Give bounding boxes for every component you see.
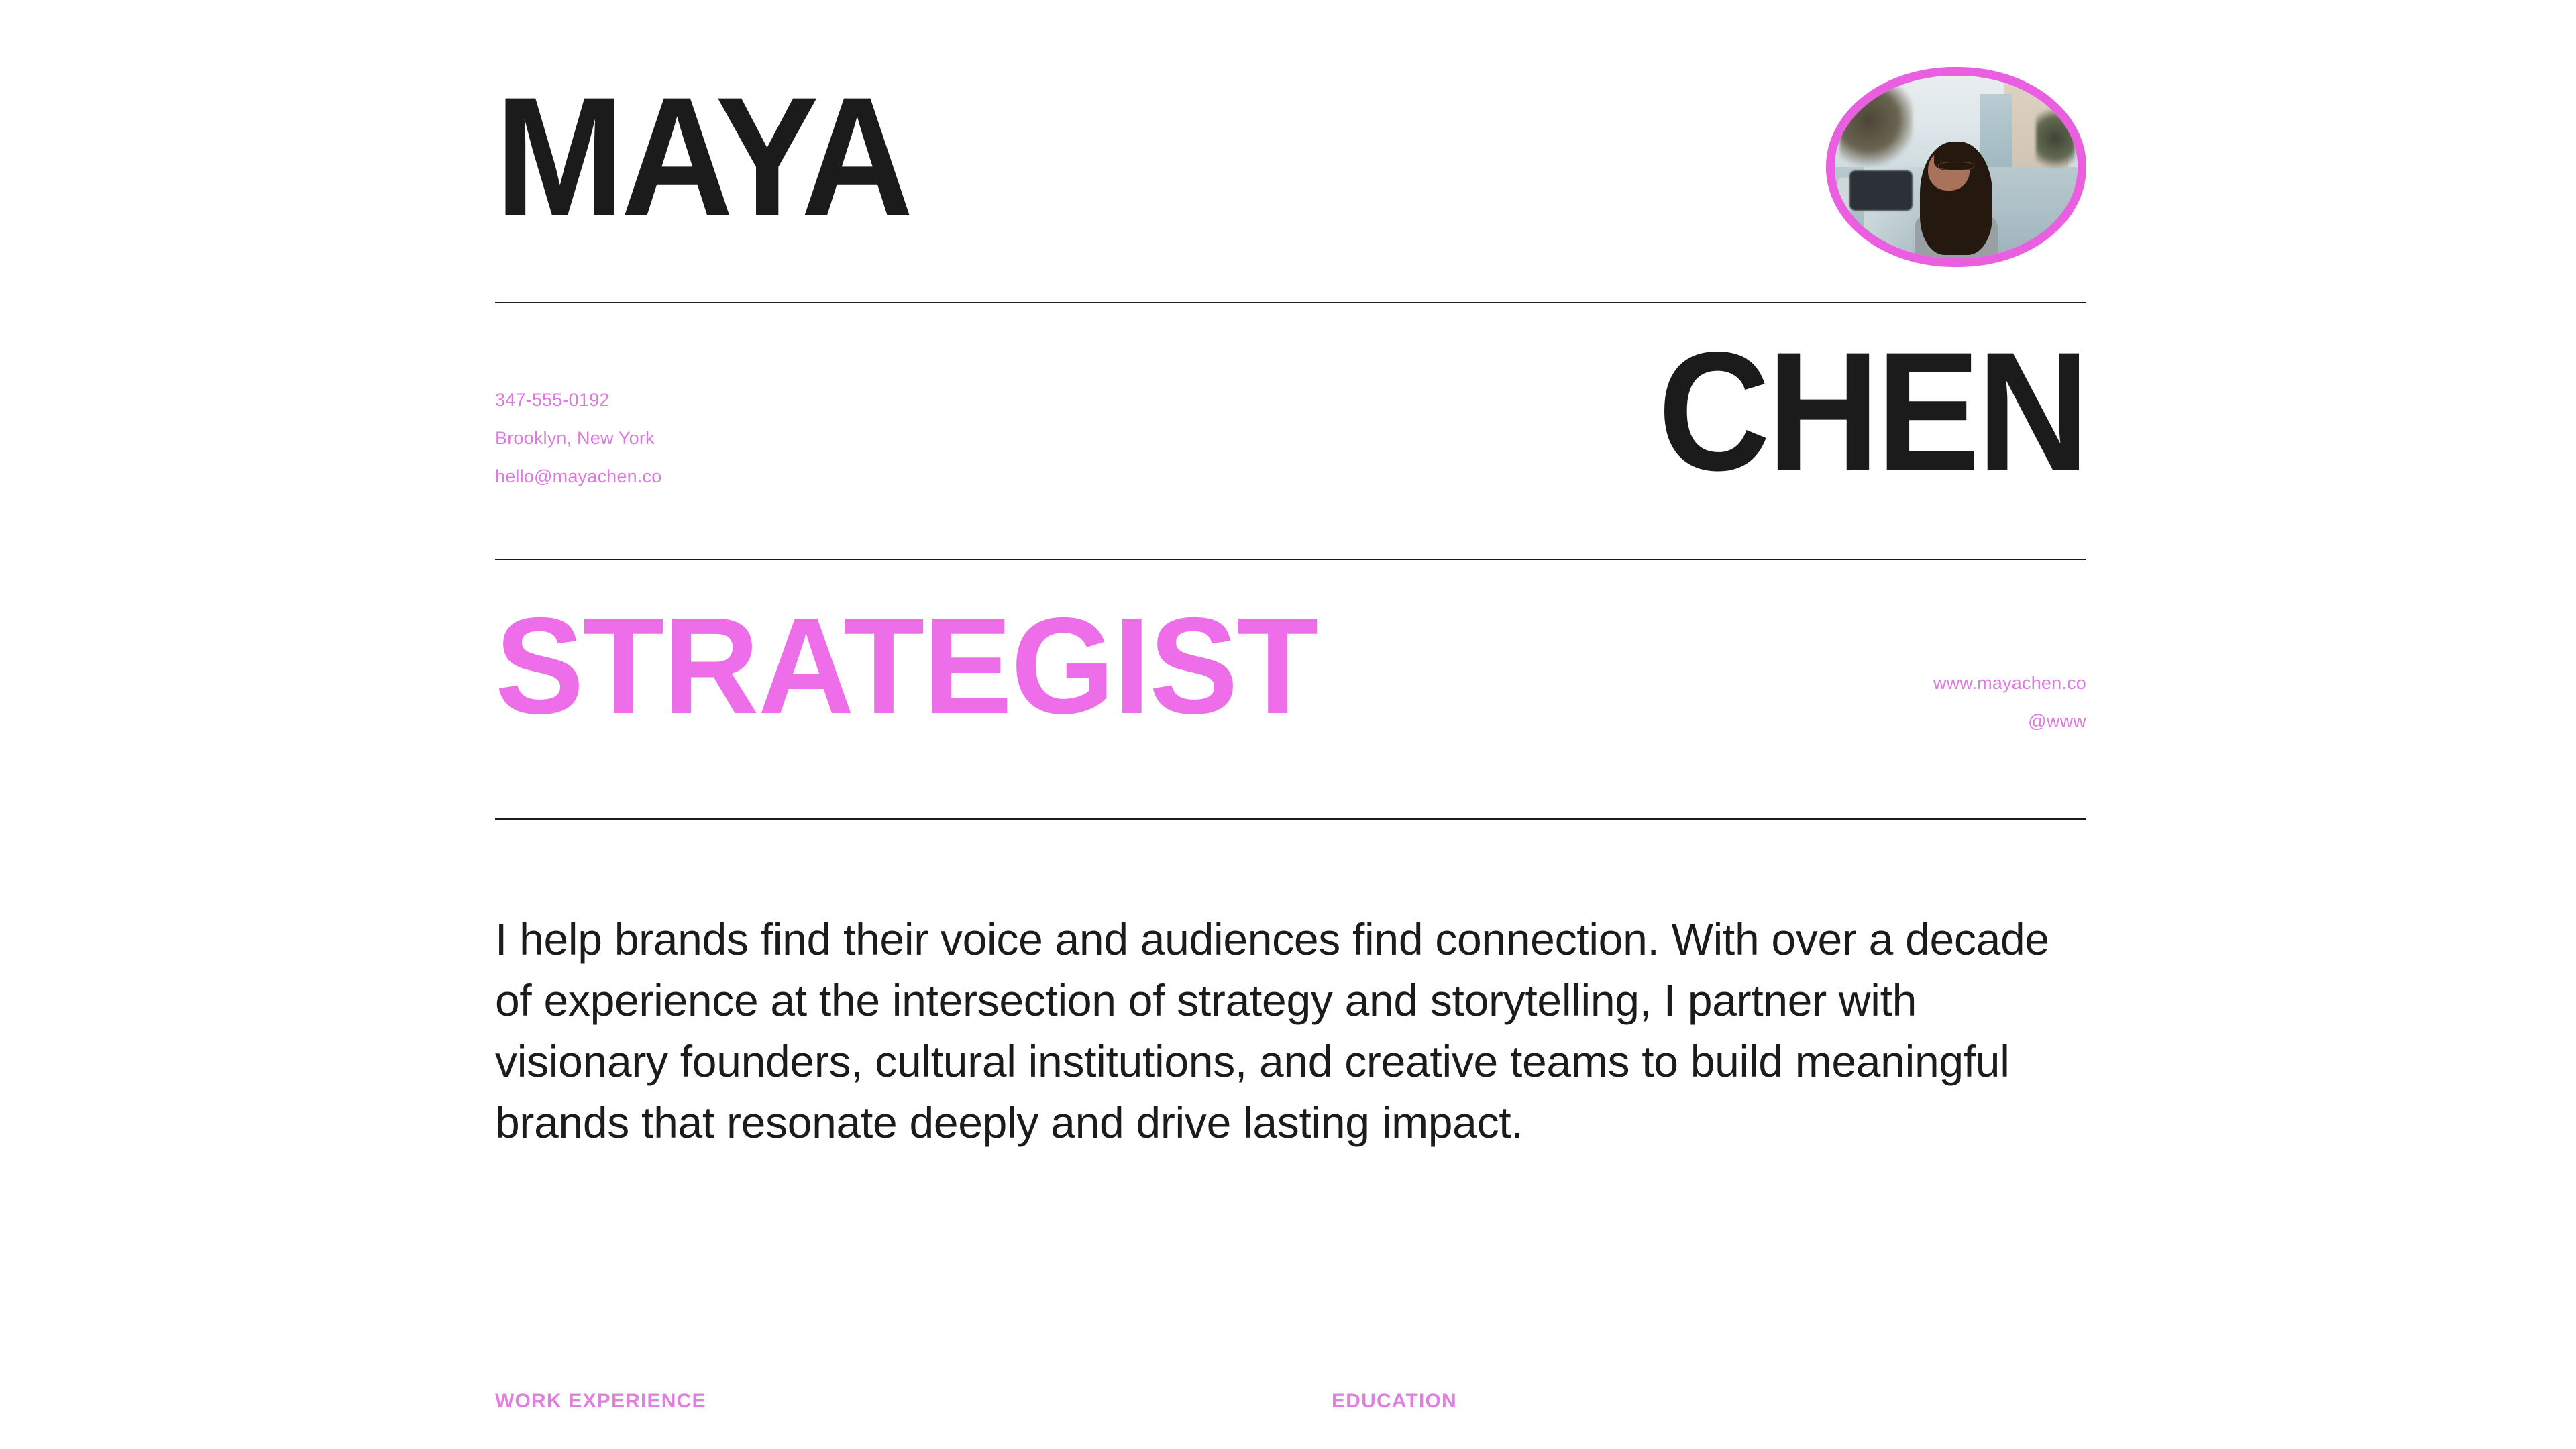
first-name: MAYA <box>495 86 910 228</box>
section-label-work-experience: WORK EXPERIENCE <box>495 1390 706 1413</box>
photo-tree-left <box>1839 87 1913 170</box>
summary-text: I help brands find their voice and audie… <box>495 909 2086 1153</box>
last-name: CHEN <box>1658 341 2086 483</box>
divider-2 <box>495 559 2086 560</box>
divider-3 <box>495 818 2086 820</box>
resume-page: MAYA <box>0 0 2576 1449</box>
contact-phone[interactable]: 347-555-0192 <box>495 381 661 419</box>
photo-person-glasses <box>1938 162 1974 171</box>
contact-location: Brooklyn, New York <box>495 419 661 458</box>
link-website[interactable]: www.mayachen.co <box>1933 664 2086 702</box>
divider-1 <box>495 302 2086 303</box>
link-social-handle[interactable]: @www <box>1933 702 2086 741</box>
contact-row: 347-555-0192 Brooklyn, New York hello@ma… <box>495 376 2086 543</box>
contact-list: 347-555-0192 Brooklyn, New York hello@ma… <box>495 381 661 496</box>
links-list: www.mayachen.co @www <box>1933 664 2086 741</box>
section-label-education: EDUCATION <box>1332 1390 1457 1413</box>
photo-car-dark <box>1849 170 1913 211</box>
avatar-photo <box>1835 76 2078 258</box>
photo-tree-right <box>2036 109 2075 174</box>
contact-email[interactable]: hello@mayachen.co <box>495 458 661 496</box>
summary-block: I help brands find their voice and audie… <box>495 909 2086 1153</box>
role-row: STRATEGIST www.mayachen.co @www <box>495 597 2086 792</box>
header-top-row: MAYA <box>495 67 2086 282</box>
section-labels-row: WORK EXPERIENCE EDUCATION <box>495 1390 2086 1430</box>
avatar <box>1826 67 2086 267</box>
role-title: STRATEGIST <box>495 597 1317 735</box>
